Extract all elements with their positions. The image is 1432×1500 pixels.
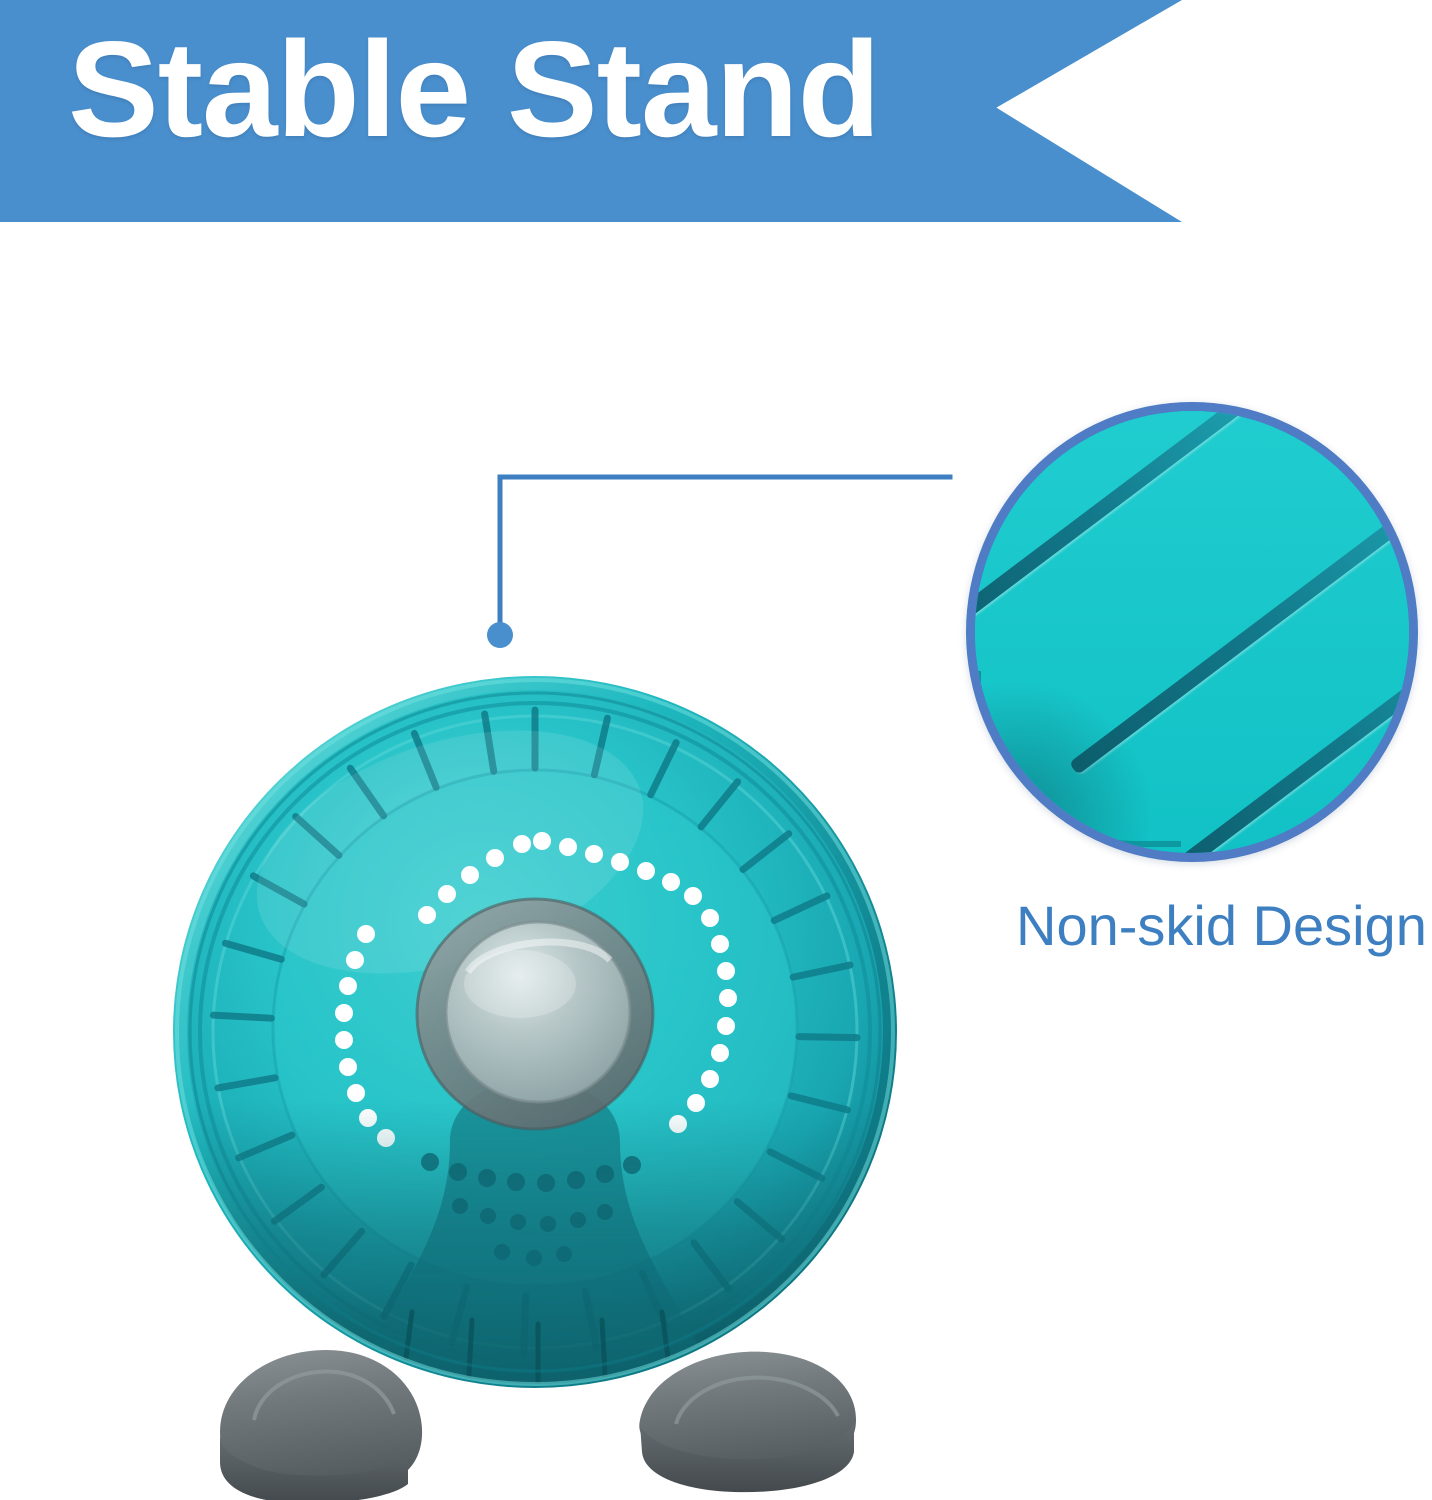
groove-icon [966,402,1285,645]
product-image-hamster-wheel [150,672,920,1500]
callout-leader [480,455,980,665]
magnifier-surface [975,411,1409,853]
magnified-detail-circle [966,402,1418,862]
groove-icon [1168,583,1418,862]
page-title: Stable Stand [68,18,880,161]
wheel-disc [173,676,897,1396]
callout-target-dot [487,622,513,648]
detail-caption: Non-skid Design [1016,893,1427,958]
header-banner: Stable Stand [0,0,1182,222]
stand-foot-right [639,1352,856,1493]
wheel-hub [417,899,653,1129]
product-feature-page: Stable Stand Non-skid Design [0,0,1432,1500]
stand-foot-left [220,1350,422,1500]
magnifier-shadow [966,676,1157,862]
